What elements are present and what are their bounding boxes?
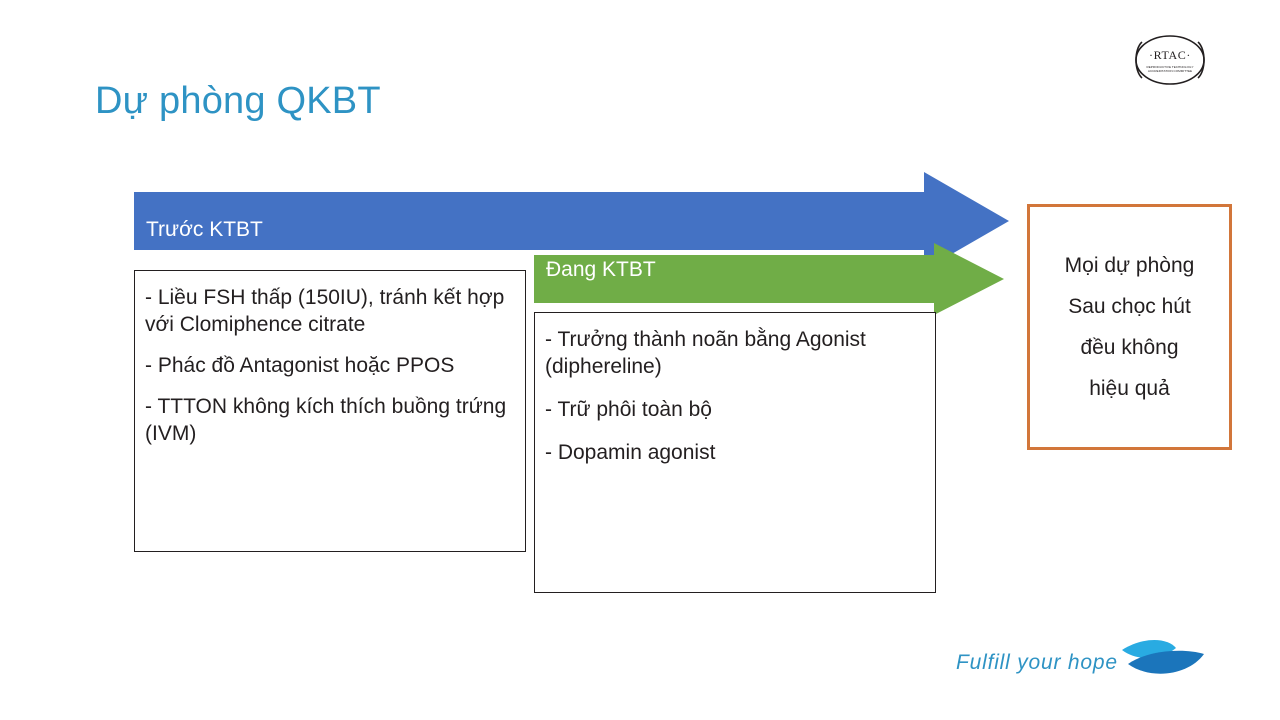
outcome-line: Mọi dự phòng [1065,254,1195,278]
svg-text:·RTAC·: ·RTAC· [1149,48,1191,62]
stage1-item: - Phác đồ Antagonist hoặc PPOS [145,353,515,380]
footer-tagline: Fulfill your hope [956,651,1118,675]
stage1-item: - TTTON không kích thích buồng trứng (IV… [145,394,515,448]
stage1-content-box: - Liều FSH thấp (150IU), tránh kết hợp v… [134,270,526,552]
stage2-item: - Trữ phôi toàn bộ [545,397,925,424]
stage1-item-list: - Liều FSH thấp (150IU), tránh kết hợp v… [135,271,525,447]
stage2-header: Đang KTBT [546,258,656,282]
stage2-item: - Trưởng thành noãn bằng Agonist (dipher… [545,327,925,381]
page-title: Dự phòng QKBT [95,80,381,123]
stage2-content-box: - Trưởng thành noãn bằng Agonist (dipher… [534,312,936,593]
ivfmd-leaf-mark-icon [1118,630,1210,686]
stage1-item: - Liều FSH thấp (150IU), tránh kết hợp v… [145,285,515,339]
outcome-line: Sau chọc hút [1068,295,1191,319]
rtac-logo: ·RTAC· REPRODUCTIVE TECHNOLOGY ACCREDITA… [1130,32,1210,88]
outcome-box: Mọi dự phòng Sau chọc hút đều không hiệu… [1027,204,1232,450]
slide: Dự phòng QKBT ·RTAC· REPRODUCTIVE TECHNO… [0,0,1280,720]
stage1-header: Trước KTBT [146,218,263,242]
stage2-item-list: - Trưởng thành noãn bằng Agonist (dipher… [535,313,935,467]
outcome-line: hiệu quả [1089,377,1170,401]
svg-text:ACCREDITATION COMMITTEE: ACCREDITATION COMMITTEE [1148,69,1192,73]
stage2-item: - Dopamin agonist [545,440,925,467]
outcome-line: đều không [1080,336,1178,360]
